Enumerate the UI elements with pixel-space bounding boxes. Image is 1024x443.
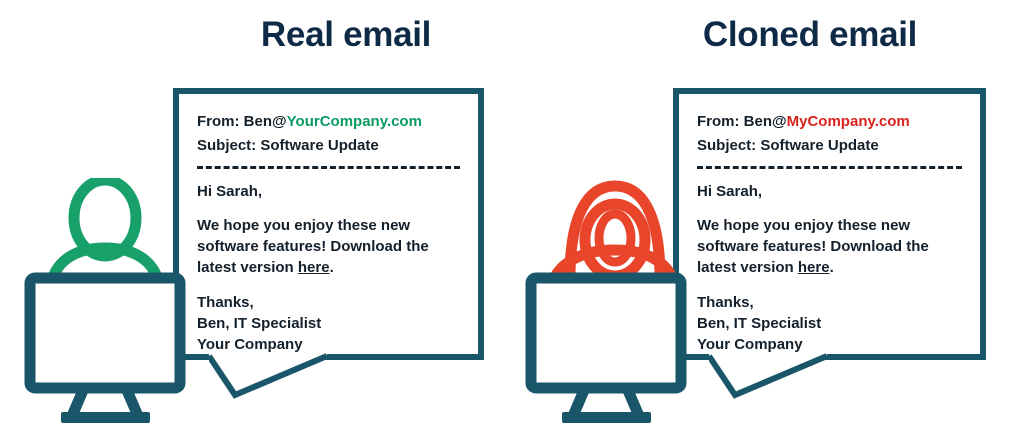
- email-header-real: From: Ben@YourCompany.com Subject: Softw…: [197, 110, 460, 159]
- illustration-canvas: Real email From: Ben@YourComp: [0, 0, 1024, 443]
- email-subject-value: Software Update: [260, 137, 378, 154]
- email-body-text-after-link: .: [330, 259, 334, 276]
- email-from-domain: YourCompany.com: [287, 113, 422, 130]
- email-subject-value: Software Update: [760, 137, 878, 154]
- email-subject-label: Subject:: [197, 137, 260, 154]
- email-from-domain: MyCompany.com: [787, 113, 910, 130]
- email-from-line: From: Ben@YourCompany.com: [197, 110, 460, 134]
- person-at-computer-icon: [22, 178, 237, 430]
- panel-real-email: Real email From: Ben@YourComp: [0, 0, 512, 443]
- download-here-link[interactable]: here: [798, 259, 830, 276]
- page-title-cloned: Cloned email: [512, 16, 1024, 55]
- hooded-hacker-at-computer-icon: [525, 178, 740, 430]
- email-from-line: From: Ben@MyCompany.com: [697, 110, 962, 134]
- download-here-link[interactable]: here: [298, 259, 330, 276]
- email-header-cloned: From: Ben@MyCompany.com Subject: Softwar…: [697, 110, 962, 159]
- email-subject-line: Subject: Software Update: [197, 134, 460, 158]
- email-subject-label: Subject:: [697, 137, 760, 154]
- email-body-text-after-link: .: [830, 259, 834, 276]
- email-from-label: From: Ben@: [197, 113, 287, 130]
- panel-cloned-email: Cloned email: [512, 0, 1024, 443]
- email-subject-line: Subject: Software Update: [697, 134, 962, 158]
- email-from-label: From: Ben@: [697, 113, 787, 130]
